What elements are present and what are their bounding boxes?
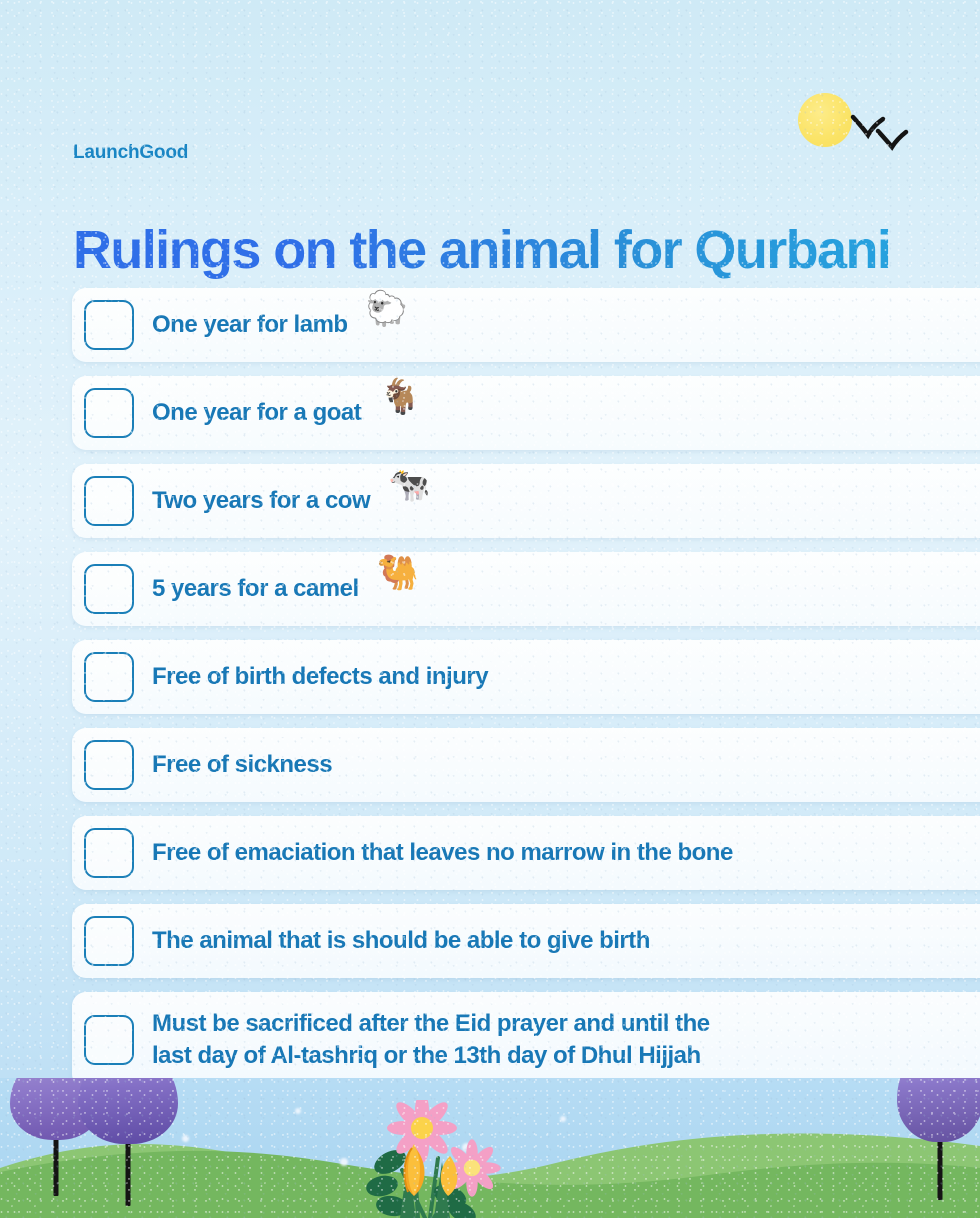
poster: LaunchGood Rulings on the animal for Qur… — [0, 0, 980, 1218]
sparkle-dot — [182, 1135, 189, 1142]
checkbox-9[interactable] — [84, 1015, 134, 1065]
sheep-emoji: 🐑 — [366, 292, 408, 326]
checkbox-1[interactable] — [84, 300, 134, 350]
checklist-row-label: Free of sickness — [152, 749, 332, 781]
checklist-row-label: Free of emaciation that leaves no marrow… — [152, 837, 733, 869]
checklist-row-body: One year for lamb🐑 — [152, 308, 408, 342]
checklist-row[interactable]: The animal that is should be able to giv… — [72, 904, 980, 978]
checklist-row-line: Free of sickness — [152, 749, 332, 781]
checklist-row-body: 5 years for a camel🐫 — [152, 572, 419, 606]
checklist-row-line: 5 years for a camel — [152, 573, 359, 605]
checklist-row-body: Free of birth defects and injury — [152, 661, 488, 693]
checklist-row-line: One year for a goat — [152, 397, 361, 429]
goat-emoji: 🐐 — [379, 380, 421, 414]
sparkle-dot — [560, 1116, 566, 1122]
checkbox-6[interactable] — [84, 740, 134, 790]
checklist-row-line: Two years for a cow — [152, 485, 370, 517]
checklist-row-body: The animal that is should be able to giv… — [152, 925, 650, 957]
checklist-row[interactable]: Must be sacrificed after the Eid prayer … — [72, 992, 980, 1088]
checklist-row-body: Free of emaciation that leaves no marrow… — [152, 837, 733, 869]
checkbox-2[interactable] — [84, 388, 134, 438]
tree-left-near — [78, 1078, 178, 1206]
checklist-row-line: last day of Al-tashriq or the 13th day o… — [152, 1040, 710, 1072]
checklist-row-body: Two years for a cow🐄 — [152, 484, 430, 518]
checklist-row[interactable]: One year for a goat🐐 — [72, 376, 980, 450]
checklist-row-line: Free of birth defects and injury — [152, 661, 488, 693]
checklist-row-body: Must be sacrificed after the Eid prayer … — [152, 1008, 710, 1072]
bird-icon — [875, 128, 909, 152]
checklist-row-label: Two years for a cow — [152, 485, 370, 517]
checklist-row[interactable]: Free of emaciation that leaves no marrow… — [72, 816, 980, 890]
checklist-row-body: One year for a goat🐐 — [152, 396, 422, 430]
checklist-row-line: Free of emaciation that leaves no marrow… — [152, 837, 733, 869]
checklist-row-label: One year for a goat — [152, 397, 361, 429]
checkbox-7[interactable] — [84, 828, 134, 878]
sun-icon — [798, 93, 852, 147]
page-title: Rulings on the animal for Qurbani — [73, 222, 973, 279]
checklist-row-label: Free of birth defects and injury — [152, 661, 488, 693]
tree-right — [896, 1078, 980, 1200]
checklist-row-label: 5 years for a camel — [152, 573, 359, 605]
landscape-illustration — [0, 1078, 980, 1218]
checkbox-8[interactable] — [84, 916, 134, 966]
checklist-row-line: The animal that is should be able to giv… — [152, 925, 650, 957]
checklist-row[interactable]: Free of sickness — [72, 728, 980, 802]
checklist-row[interactable]: 5 years for a camel🐫 — [72, 552, 980, 626]
camel-emoji: 🐫 — [377, 556, 419, 590]
checklist-row-line: One year for lamb — [152, 309, 348, 341]
checkbox-5[interactable] — [84, 652, 134, 702]
brand-logo: LaunchGood — [73, 142, 188, 164]
checkbox-3[interactable] — [84, 476, 134, 526]
rulings-checklist: One year for lamb🐑One year for a goat🐐Tw… — [72, 288, 980, 1190]
checklist-row-label: One year for lamb — [152, 309, 348, 341]
checklist-row[interactable]: Free of birth defects and injury — [72, 640, 980, 714]
checklist-row-body: Free of sickness — [152, 749, 332, 781]
checklist-row-line: Must be sacrificed after the Eid prayer … — [152, 1008, 710, 1040]
checklist-row[interactable]: One year for lamb🐑 — [72, 288, 980, 362]
checklist-row[interactable]: Two years for a cow🐄 — [72, 464, 980, 538]
flower-bouquet — [330, 1100, 520, 1218]
sparkle-dot — [295, 1108, 301, 1114]
checkbox-4[interactable] — [84, 564, 134, 614]
checklist-row-label: The animal that is should be able to giv… — [152, 925, 650, 957]
checklist-row-label: Must be sacrificed after the Eid prayer … — [152, 1008, 710, 1072]
cow-emoji: 🐄 — [388, 468, 430, 502]
